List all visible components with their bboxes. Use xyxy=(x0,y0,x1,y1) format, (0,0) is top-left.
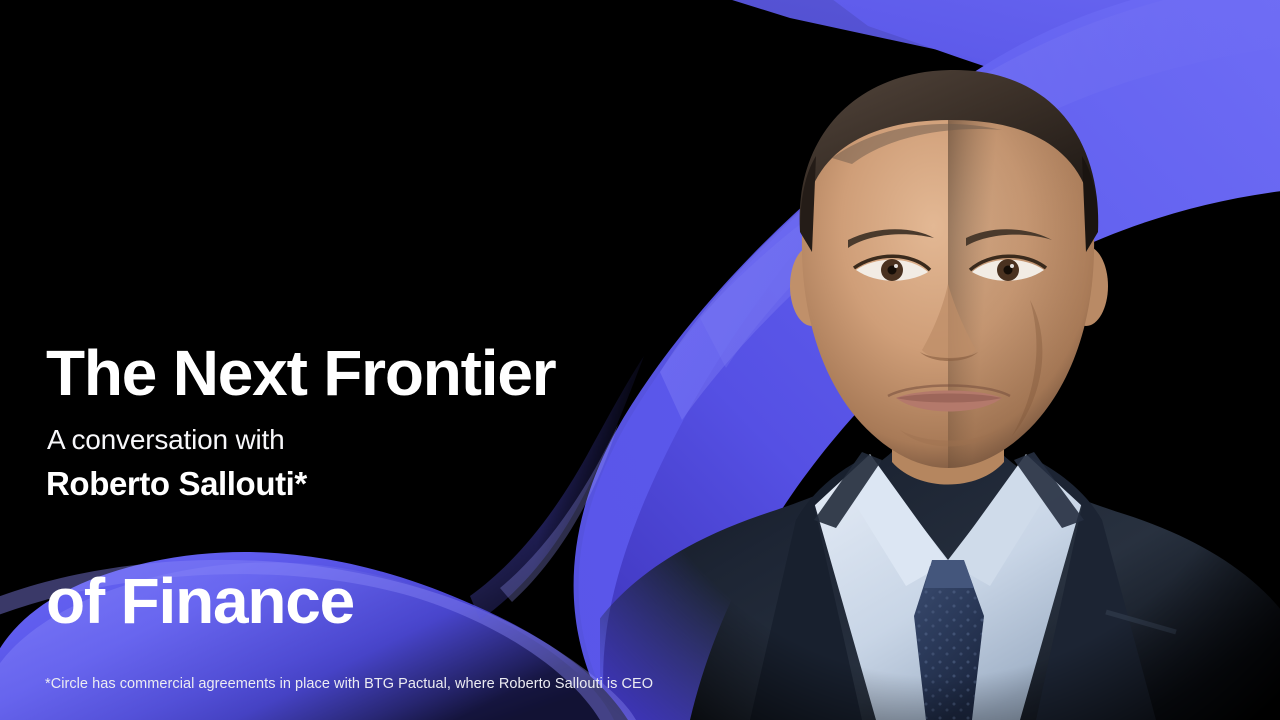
title-card: The Next Frontier of Finance A conversat… xyxy=(0,0,1280,720)
title-line-2: of Finance xyxy=(46,563,555,639)
speaker-portrait xyxy=(600,0,1280,720)
footnote-disclaimer: *Circle has commercial agreements in pla… xyxy=(45,675,653,693)
speaker-name: Roberto Sallouti* xyxy=(46,463,307,505)
title-line-1: The Next Frontier xyxy=(46,335,555,411)
subtitle-kicker: A conversation with xyxy=(47,423,284,457)
